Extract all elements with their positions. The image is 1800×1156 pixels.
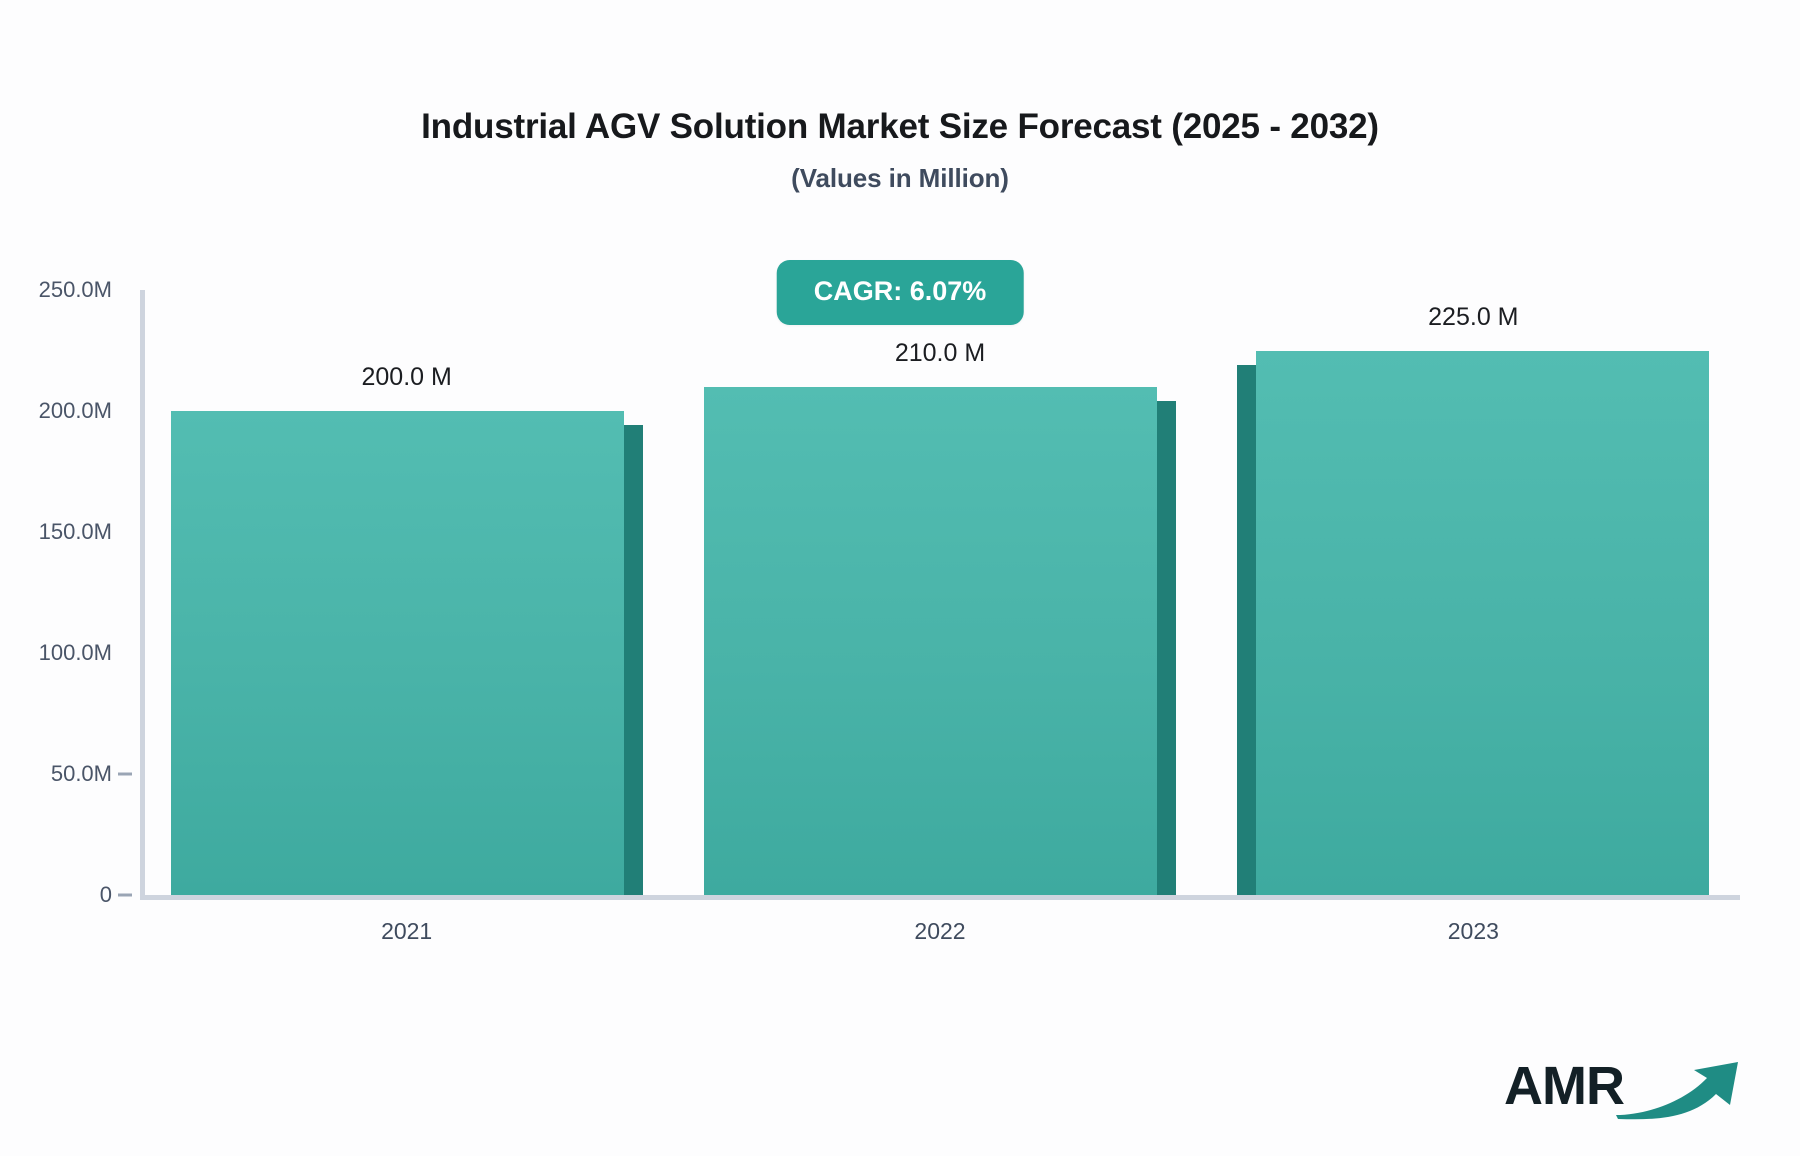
chart-container: Industrial AGV Solution Market Size Fore… (0, 0, 1800, 1156)
cagr-badge: CAGR: 6.07% (777, 260, 1024, 325)
bar-front-face (171, 411, 624, 895)
bar[interactable] (704, 387, 1176, 895)
y-axis-tick-label: 50.0M (0, 761, 112, 787)
bar-side-face (624, 425, 643, 895)
growth-arrow-icon (1612, 1058, 1742, 1120)
title-block: Industrial AGV Solution Market Size Fore… (0, 108, 1800, 194)
bar-value-label: 225.0 M (1237, 303, 1709, 332)
y-axis-tick-label: 150.0M (0, 519, 112, 545)
bar-value-label: 200.0 M (171, 363, 643, 392)
y-axis-tick-label: 250.0M (0, 277, 112, 303)
amr-wordmark: AMR (1504, 1059, 1624, 1113)
plot-area: 250.0M200.0M150.0M100.0M50.0M0 200.0 M20… (140, 290, 1740, 895)
y-axis-tick-mark (118, 773, 132, 776)
x-axis-category-label: 2023 (1237, 918, 1709, 945)
y-axis-tick-label: 200.0M (0, 398, 112, 424)
amr-logo: AMR (1504, 1058, 1742, 1114)
bar[interactable] (171, 411, 643, 895)
x-axis-category-label: 2022 (704, 918, 1176, 945)
y-axis-line (140, 290, 145, 895)
y-axis-tick-mark (118, 894, 132, 897)
bar-side-face (1157, 401, 1176, 895)
chart-subtitle: (Values in Million) (0, 163, 1800, 194)
bar[interactable] (1237, 351, 1709, 896)
bar-group: 210.0 M2022 (704, 290, 1176, 895)
bar-front-face (704, 387, 1157, 895)
y-axis-tick-label: 0 (0, 882, 112, 908)
x-axis-category-label: 2021 (171, 918, 643, 945)
chart-title: Industrial AGV Solution Market Size Fore… (0, 108, 1800, 147)
bar-front-face (1256, 351, 1709, 896)
x-axis-line (140, 895, 1740, 900)
y-axis-tick-label: 100.0M (0, 640, 112, 666)
bar-side-face (1237, 365, 1256, 896)
bar-value-label: 210.0 M (704, 339, 1176, 368)
bar-group: 200.0 M2021 (171, 290, 643, 895)
bar-group: 225.0 M2023 (1237, 290, 1709, 895)
